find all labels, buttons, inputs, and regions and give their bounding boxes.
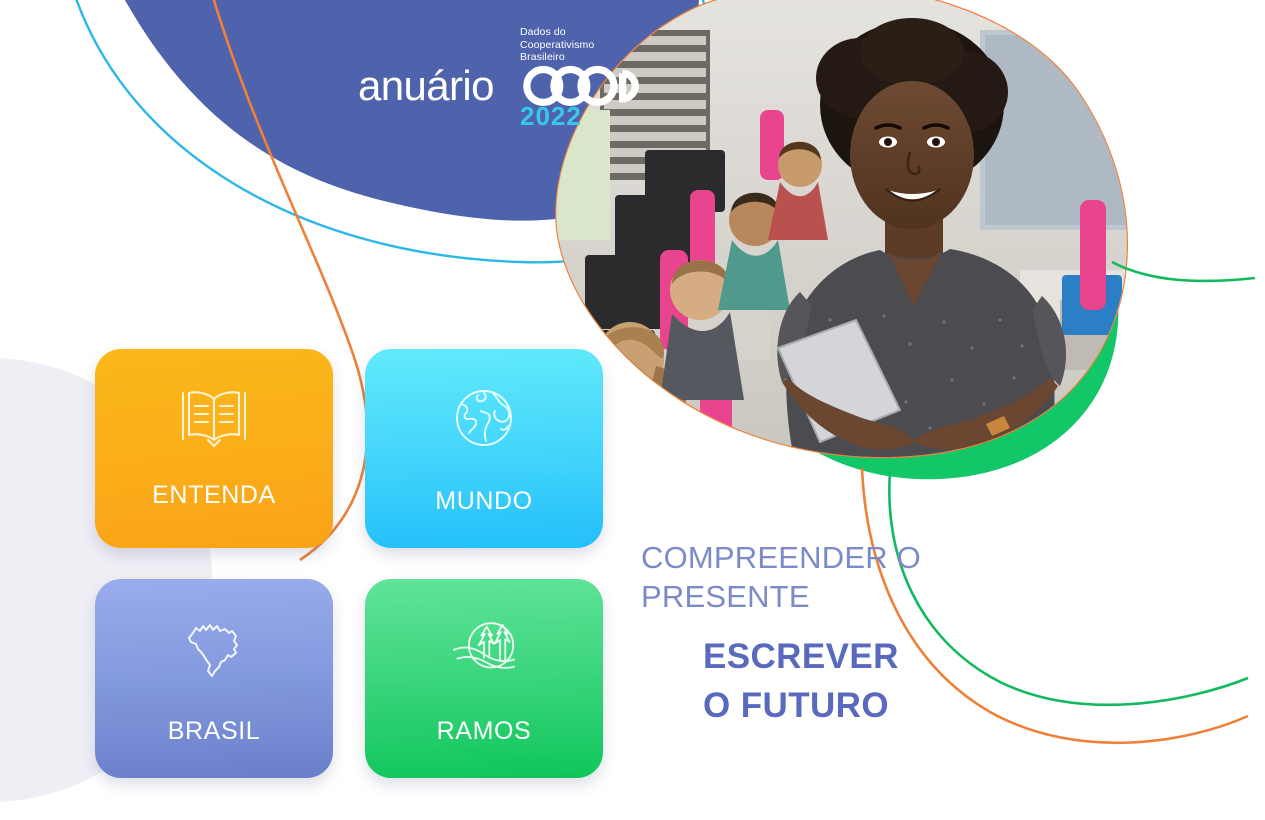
section-cards: ENTENDA MUNDO (95, 349, 605, 778)
headline-line-1: COMPREENDER O (641, 538, 1061, 577)
anuario-coop-logo: Dados do Cooperativismo Brasileiro anuár… (355, 14, 645, 134)
green-curve-right-tail (1112, 262, 1255, 281)
teacher-figure (777, 18, 1066, 470)
card-mundo-label: MUNDO (365, 487, 603, 516)
poster-canvas: Dados do Cooperativismo Brasileiro anuár… (0, 0, 1265, 820)
card-brasil-label: BRASIL (95, 717, 333, 746)
child-fourth (768, 142, 828, 240)
card-entenda-label: ENTENDA (95, 481, 333, 510)
card-ramos[interactable]: RAMOS (365, 579, 603, 778)
card-brasil[interactable]: BRASIL (95, 579, 333, 778)
headline-block: COMPREENDER O PRESENTE ESCREVER O FUTURO (641, 538, 1061, 730)
headline-line-4: O FUTURO (703, 681, 1061, 730)
logo-anuario-text: anuário (358, 62, 494, 110)
card-mundo[interactable]: MUNDO (365, 349, 603, 548)
brazil-map-icon (175, 615, 253, 681)
trees-in-circle-icon (445, 615, 523, 681)
headline-line-2: PRESENTE (641, 577, 1061, 616)
card-ramos-label: RAMOS (365, 717, 603, 746)
child-second (660, 260, 744, 400)
child-third (718, 193, 790, 310)
logo-year: 2022 (520, 102, 582, 130)
logo-wordmark: anuário (355, 62, 645, 114)
card-entenda[interactable]: ENTENDA (95, 349, 333, 548)
green-blob-decoration (728, 119, 1118, 479)
open-book-icon (175, 385, 253, 451)
headline-line-3: ESCREVER (703, 632, 1061, 681)
globe-icon (445, 385, 523, 451)
